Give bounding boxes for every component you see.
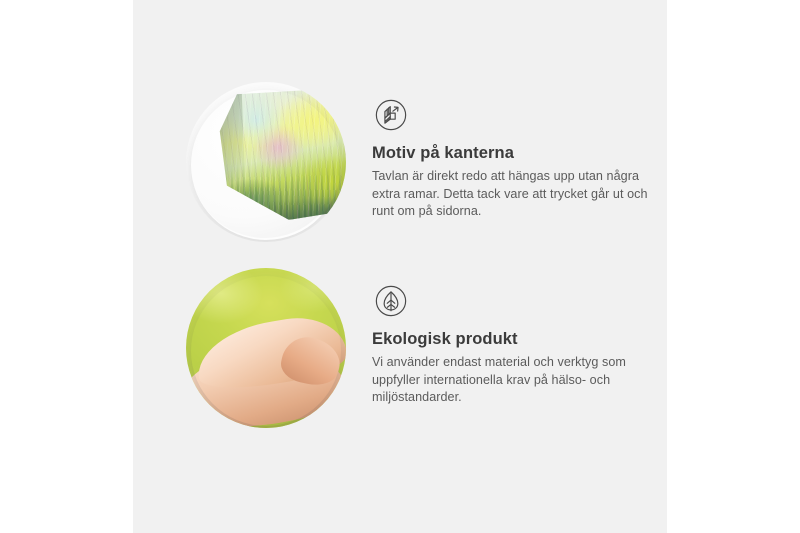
feature-body-edges: Tavlan är direkt redo att hängas upp uta… [372,168,654,222]
feature-body-eco: Vi använder endast material och verktyg … [372,354,654,408]
feature-row-edges: Motiv på kanterna Tavlan är direkt redo … [186,82,654,242]
hands-holding-wood-chips-thumbnail [186,268,346,428]
canvas-wrapped-edge-icon [372,96,410,134]
feature-title-eco: Ekologisk produkt [372,329,654,350]
content-panel [133,0,667,533]
feature-copy-eco: Ekologisk produkt Vi använder endast mat… [372,268,654,407]
feature-row-eco: Ekologisk produkt Vi använder endast mat… [186,268,654,428]
product-features-graphic: Motiv på kanterna Tavlan är direkt redo … [0,0,800,533]
feature-title-edges: Motiv på kanterna [372,143,654,164]
leaf-icon [372,282,410,320]
feature-copy-edges: Motiv på kanterna Tavlan är direkt redo … [372,82,654,221]
canvas-print-corner-thumbnail [186,82,346,242]
